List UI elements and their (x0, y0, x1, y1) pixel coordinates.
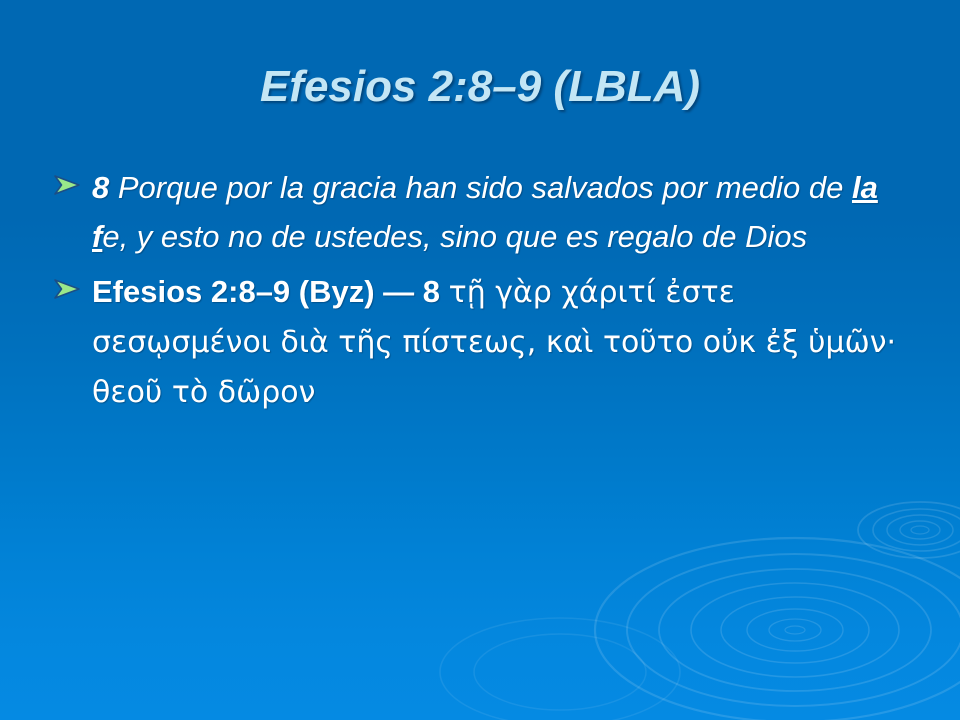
list-item: 8 Porque por la gracia han sido salvados… (52, 163, 912, 261)
bullet-text-byz: Efesios 2:8–9 (Byz) — 8 τῇ γὰρ χάριτί ἐσ… (92, 267, 912, 417)
verse-number: 8 (92, 170, 118, 205)
list-item: Efesios 2:8–9 (Byz) — 8 τῇ γὰρ χάριτί ἐσ… (52, 267, 912, 417)
verse-part-2: e, y esto no de ustedes, sino que es reg… (102, 219, 807, 254)
slide-canvas: Efesios 2:8–9 (LBLA) 8 Porque por la gra… (0, 0, 960, 720)
slide-body: 8 Porque por la gracia han sido salvados… (52, 163, 912, 423)
greek-emphasis-pisteos: πίστεως, (403, 325, 537, 360)
arrow-bullet-icon (52, 267, 92, 300)
verse-reference-byz: Efesios 2:8–9 (Byz) — 8 (92, 274, 449, 309)
verse-part-1: Porque por la gracia han sido salvados p… (118, 170, 852, 205)
slide-title: Efesios 2:8–9 (LBLA) (0, 62, 960, 112)
bullet-text-lbla: 8 Porque por la gracia han sido salvados… (92, 163, 912, 261)
arrow-bullet-icon (52, 163, 92, 196)
